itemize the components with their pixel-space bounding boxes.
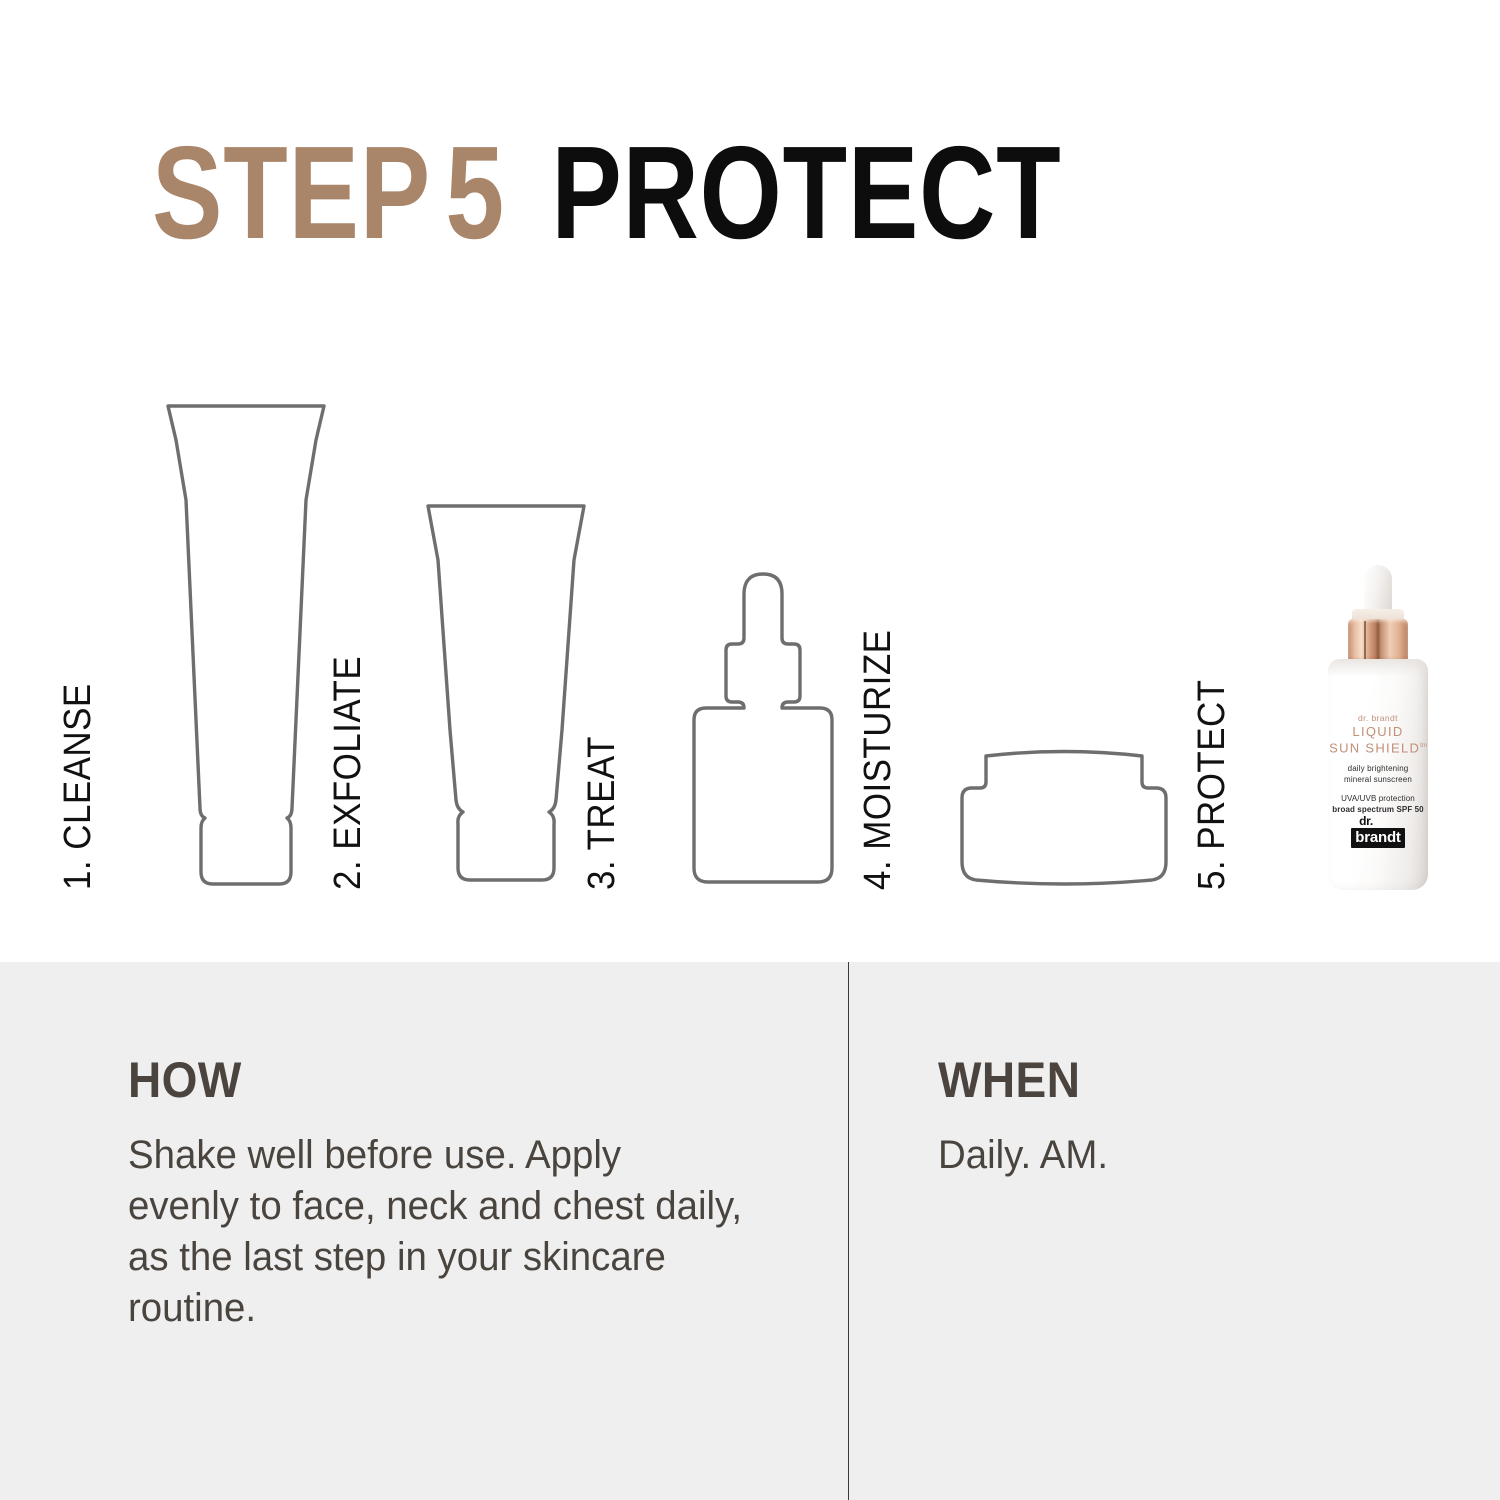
how-column: HOW Shake well before use. Apply evenly … (128, 1052, 768, 1334)
label-claim-2: broad spectrum SPF 50 (1328, 805, 1428, 816)
when-column: WHEN Daily. AM. (938, 1052, 1418, 1181)
how-heading: HOW (128, 1052, 717, 1108)
label-descriptor-1: daily brightening (1328, 764, 1428, 775)
logo-dr: dr. (1304, 815, 1428, 827)
dropper-bottle-outline-icon (680, 568, 846, 890)
bottle-shoulder (1328, 659, 1428, 677)
page-title: STEP5PROTECT (152, 118, 1062, 268)
step-label-moisturize: 4. MOISTURIZE (858, 607, 898, 890)
tube-short-outline-icon (416, 500, 596, 890)
step-label-cleanse: 1. CLEANSE (58, 665, 98, 890)
title-step-word: STEP (152, 119, 431, 266)
step-label-treat: 3. TREAT (582, 723, 622, 890)
title-action: PROTECT (551, 119, 1061, 266)
logo-brandt: brandt (1351, 828, 1404, 848)
tube-tall-outline-icon (156, 400, 336, 890)
cap-seam (1364, 621, 1366, 661)
dropper-bulb (1364, 565, 1392, 615)
sunscreen-bottle-photo-icon: dr. brandt LIQUID SUN SHIELDtm daily bri… (1316, 565, 1440, 890)
when-body: Daily. AM. (938, 1130, 1399, 1181)
panel-divider (848, 962, 849, 1500)
label-claim-1: UVA/UVB protection (1328, 794, 1428, 805)
infographic-page: STEP5PROTECT 1. CLEANSE 2. EXFOLIATE (0, 0, 1500, 1500)
how-body: Shake well before use. Apply evenly to f… (128, 1130, 742, 1334)
brand-logo: dr. brandt (1328, 815, 1428, 848)
routine-lineup: 1. CLEANSE 2. EXFOLIATE 3. TREAT (0, 370, 1500, 890)
when-heading: WHEN (938, 1052, 1380, 1108)
step-label-exfoliate: 2. EXFOLIATE (328, 636, 368, 890)
trademark-mark: tm (1420, 743, 1427, 749)
label-product-line2: SUN SHIELDtm (1328, 739, 1428, 755)
label-descriptor-2: mineral sunscreen (1328, 775, 1428, 786)
label-brand: dr. brandt (1328, 713, 1428, 724)
title-step-number: 5 (445, 119, 505, 266)
bottle-cap (1348, 619, 1408, 663)
cream-jar-outline-icon (956, 740, 1174, 890)
label-product-line1: LIQUID (1328, 724, 1428, 739)
step-label-protect: 5. PROTECT (1192, 661, 1232, 890)
bottle-label: dr. brandt LIQUID SUN SHIELDtm daily bri… (1328, 713, 1428, 815)
